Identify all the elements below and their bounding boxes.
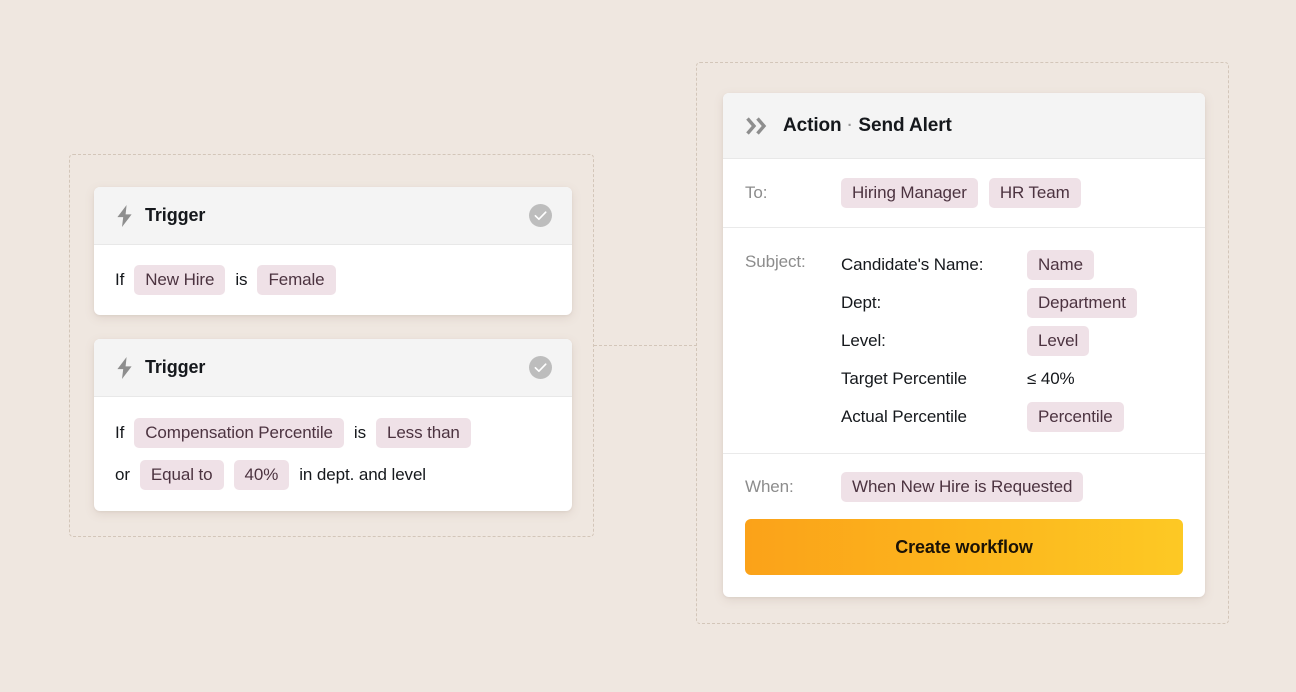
to-section: To: Hiring Manager HR Team (723, 159, 1205, 228)
subject-row: Level: Level (841, 322, 1137, 360)
condition-chip-operator[interactable]: Less than (376, 418, 471, 448)
condition-chip-subject[interactable]: Compensation Percentile (134, 418, 344, 448)
condition-chip-operator[interactable]: Equal to (140, 460, 224, 490)
subject-row: Target Percentile ≤ 40% (841, 360, 1137, 398)
workflow-canvas: Trigger If New Hire is Female (0, 0, 1296, 692)
recipient-chip-list: Hiring Manager HR Team (841, 178, 1081, 208)
subject-row-chip[interactable]: Percentile (1027, 402, 1124, 432)
action-title-separator: · (848, 117, 853, 134)
group-connector-line (594, 345, 697, 346)
action-group-container: Action · Send Alert To: Hiring Manager H… (696, 62, 1229, 624)
when-chip[interactable]: When New Hire is Requested (841, 472, 1083, 502)
trigger-title: Trigger (145, 205, 205, 226)
subject-row-label: Candidate's Name: (841, 255, 1027, 275)
condition-chip-value[interactable]: Female (257, 265, 335, 295)
action-title: Action · Send Alert (783, 115, 952, 137)
subject-row-label: Level: (841, 331, 1027, 351)
trigger-card-header: Trigger (94, 187, 572, 245)
recipient-chip[interactable]: HR Team (989, 178, 1081, 208)
subject-section: Subject: Candidate's Name: Name Dept: De… (723, 228, 1205, 454)
subject-row: Candidate's Name: Name (841, 246, 1137, 284)
create-workflow-button[interactable]: Create workflow (745, 519, 1183, 575)
subject-row: Actual Percentile Percentile (841, 398, 1137, 436)
condition-row: If New Hire is Female (115, 261, 551, 299)
when-section: When: When New Hire is Requested (723, 454, 1205, 502)
check-circle-icon[interactable] (529, 356, 552, 379)
trigger-group-container: Trigger If New Hire is Female (69, 154, 594, 537)
double-chevron-right-icon (746, 117, 771, 135)
condition-text: is (354, 423, 366, 443)
subject-rows: Candidate's Name: Name Dept: Department … (841, 246, 1137, 436)
trigger-card-body: If Compensation Percentile is Less than … (94, 397, 572, 494)
condition-row: If Compensation Percentile is Less than (115, 414, 551, 452)
subject-row-value: ≤ 40% (1027, 369, 1075, 389)
subject-row-label: Dept: (841, 293, 1027, 313)
recipient-chip[interactable]: Hiring Manager (841, 178, 978, 208)
condition-row: or Equal to 40% in dept. and level (115, 456, 551, 494)
trigger-card-body: If New Hire is Female (94, 245, 572, 299)
action-card-header: Action · Send Alert (723, 93, 1205, 159)
condition-text: If (115, 270, 124, 290)
action-title-secondary: Send Alert (858, 115, 951, 137)
condition-text: or (115, 465, 130, 485)
subject-label: Subject: (745, 246, 841, 272)
subject-row-chip[interactable]: Department (1027, 288, 1137, 318)
condition-text: If (115, 423, 124, 443)
trigger-card[interactable]: Trigger If Compensation Percentile is Le… (94, 339, 572, 511)
condition-text: in dept. and level (299, 465, 426, 485)
lightning-bolt-icon (115, 205, 134, 227)
subject-row: Dept: Department (841, 284, 1137, 322)
subject-row-chip[interactable]: Level (1027, 326, 1089, 356)
trigger-card-header: Trigger (94, 339, 572, 397)
condition-chip-value[interactable]: 40% (234, 460, 290, 490)
condition-text: is (235, 270, 247, 290)
trigger-title: Trigger (145, 357, 205, 378)
when-label: When: (745, 477, 841, 497)
action-card[interactable]: Action · Send Alert To: Hiring Manager H… (723, 93, 1205, 597)
trigger-card[interactable]: Trigger If New Hire is Female (94, 187, 572, 315)
subject-row-label: Target Percentile (841, 369, 1027, 389)
subject-row-chip[interactable]: Name (1027, 250, 1094, 280)
check-circle-icon[interactable] (529, 204, 552, 227)
condition-chip-subject[interactable]: New Hire (134, 265, 225, 295)
lightning-bolt-icon (115, 357, 134, 379)
action-title-primary: Action (783, 115, 842, 137)
to-label: To: (745, 183, 841, 203)
subject-row-label: Actual Percentile (841, 407, 1027, 427)
